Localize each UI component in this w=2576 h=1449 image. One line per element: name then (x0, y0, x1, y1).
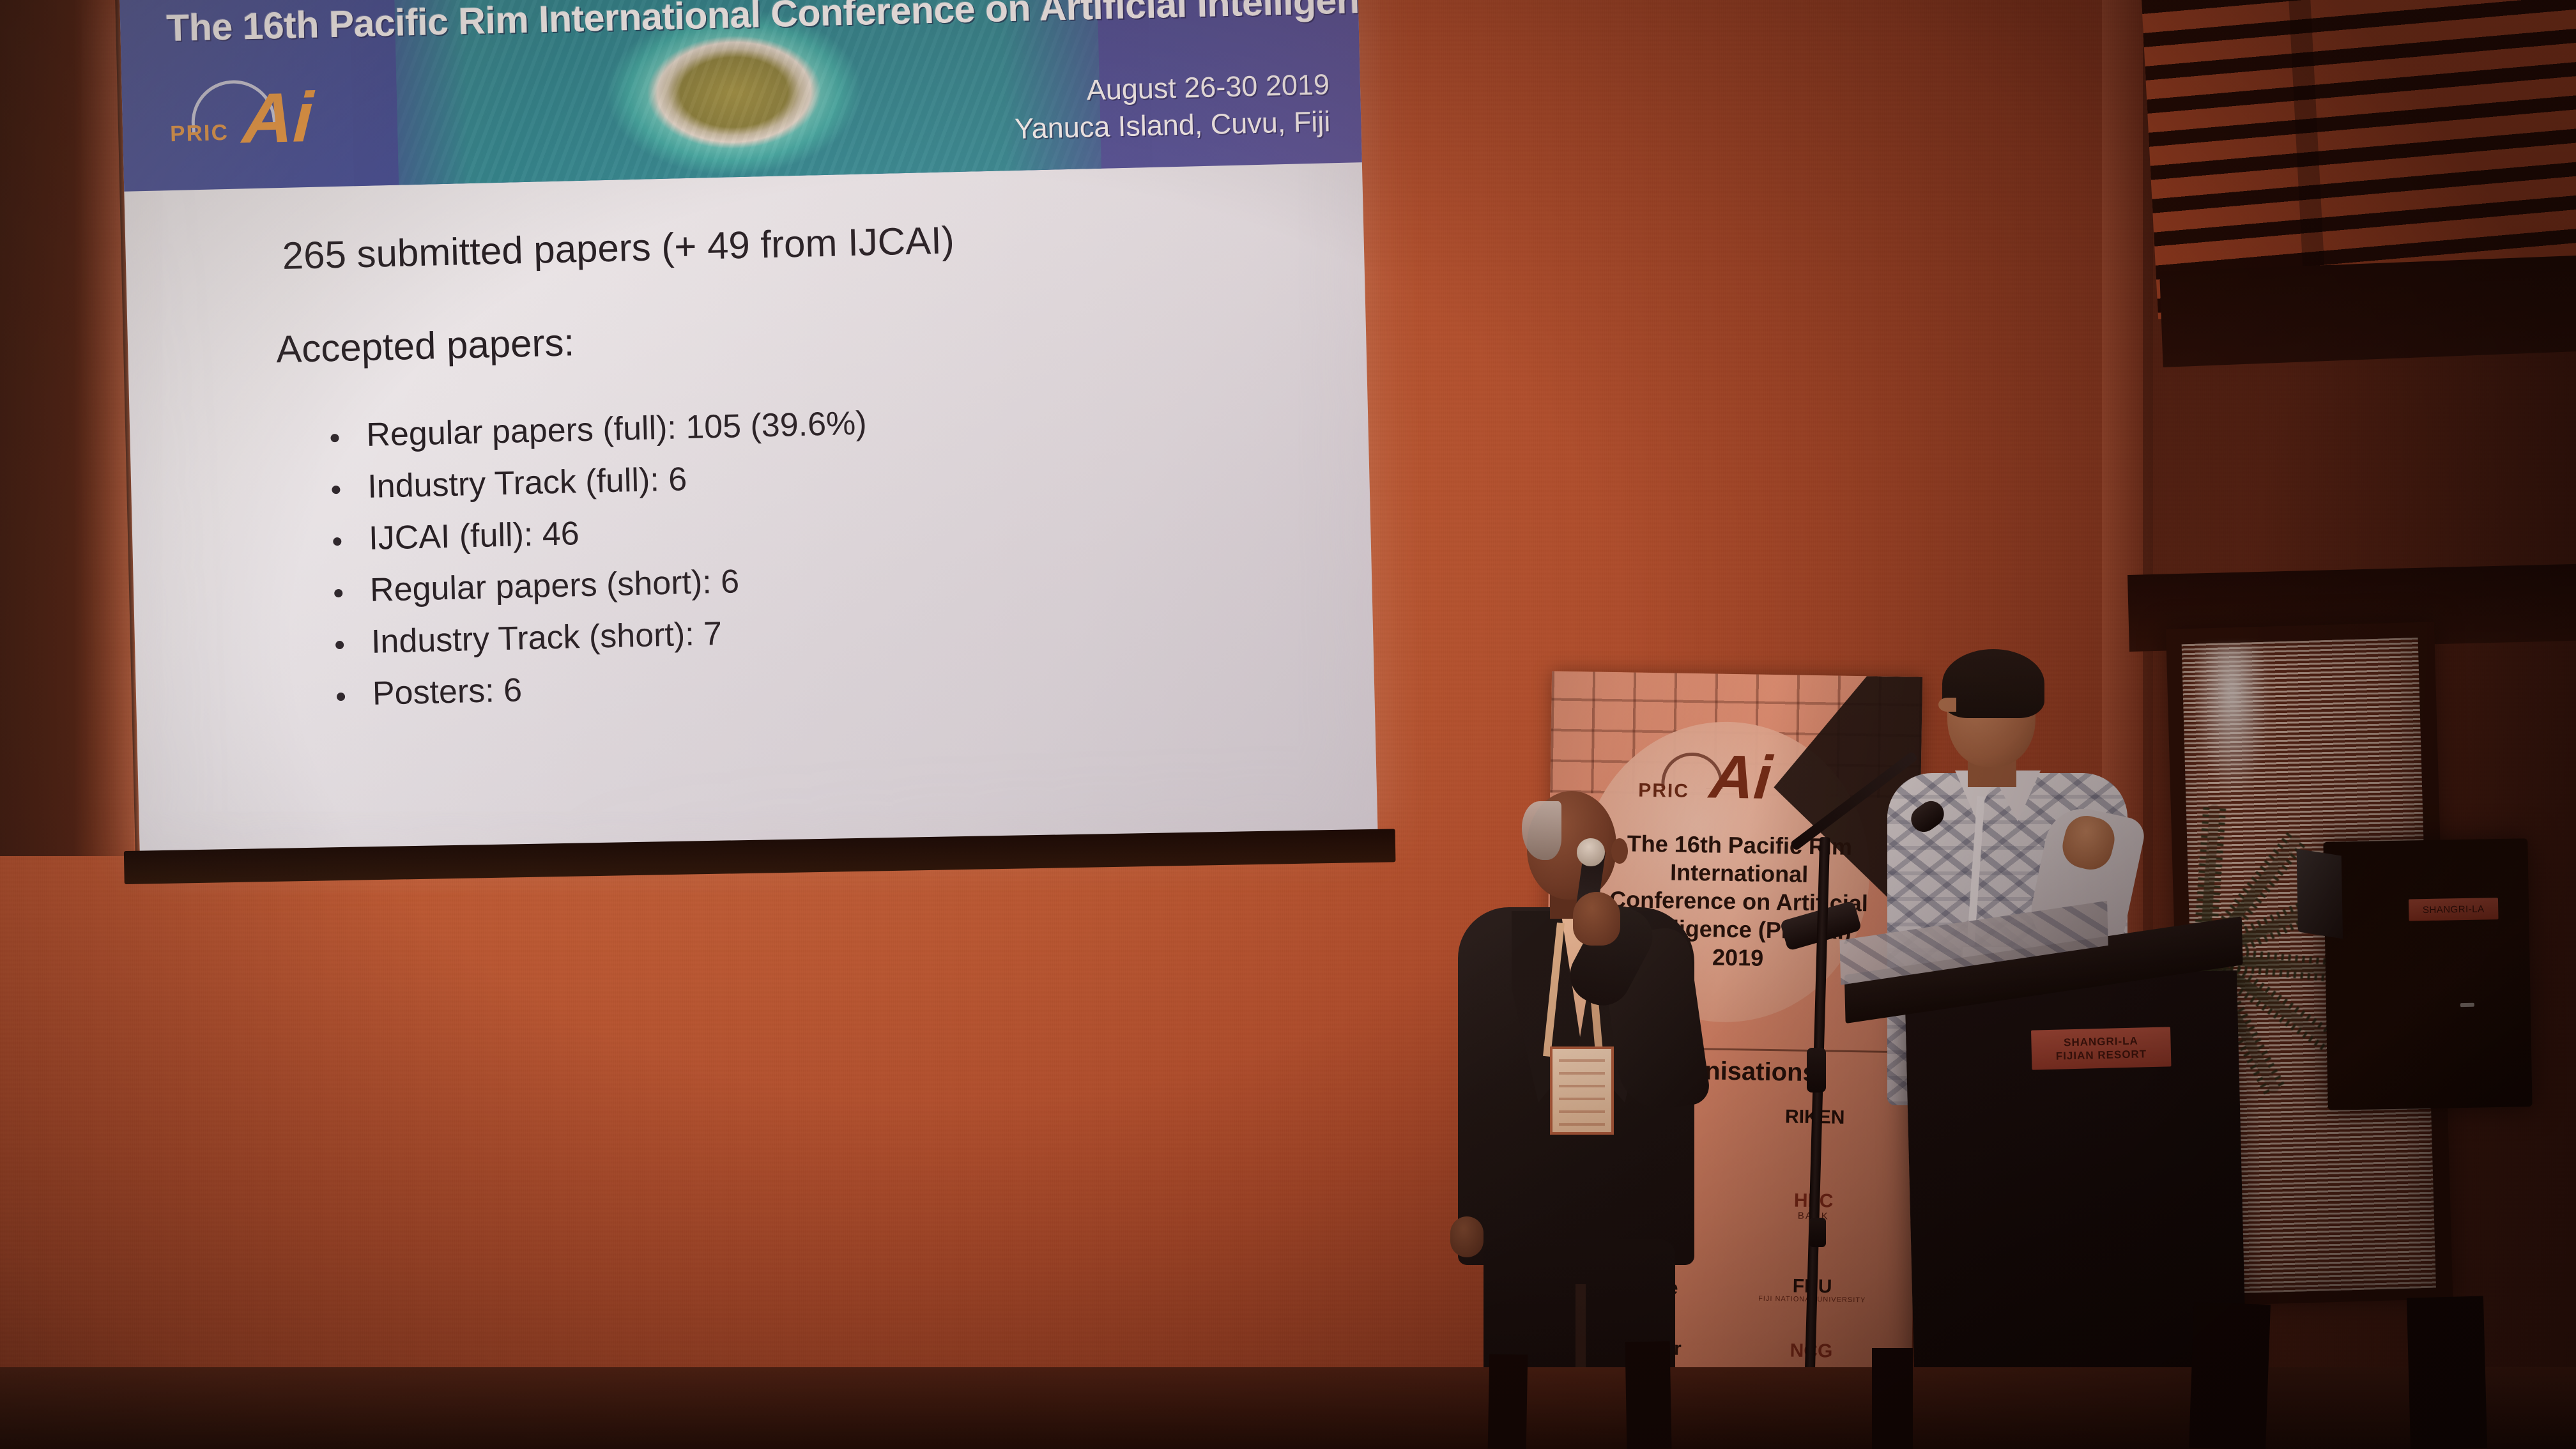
presenter1-ear (1611, 838, 1628, 864)
bullet-dot-icon (334, 589, 342, 597)
list-item: Industry Track (short): 7 (326, 601, 1285, 662)
blinds-mullion (2288, 0, 2327, 311)
list-item: IJCAI (full): 46 (324, 498, 1283, 558)
list-item: Regular papers (full): 105 (39.6%) (321, 394, 1280, 455)
slide-header-banner: The 16th Pacific Rim International Confe… (119, 0, 1362, 192)
presenter-with-microphone (1425, 779, 1725, 1449)
list-item-label: IJCAI (full): 46 (369, 515, 580, 557)
podium-sign-line2: FIJIAN RESORT (2056, 1047, 2147, 1063)
foreground-silhouette (1872, 1348, 1913, 1449)
list-item-label: Posters: 6 (372, 671, 522, 712)
bullet-dot-icon (333, 537, 341, 546)
mic-stand-joint-lower (1809, 1218, 1826, 1247)
pa-speaker-box: SHANGRI-LA (2323, 838, 2532, 1110)
list-item: Regular papers (short): 6 (325, 549, 1284, 610)
foreground-silhouette (2189, 1302, 2271, 1449)
foreground-silhouette (1625, 1341, 1672, 1449)
list-item-label: Regular papers (full): 105 (39.6%) (366, 405, 867, 454)
accepted-papers-heading: Accepted papers: (275, 320, 574, 371)
pricai-logo-prefix: PRIC (170, 120, 229, 147)
presenter1-hand (1573, 892, 1620, 946)
list-item: Posters: 6 (327, 653, 1286, 714)
podium-venue-sign: SHANGRI-LA FIJIAN RESORT (2031, 1027, 2171, 1069)
pa-speaker-led (2460, 1003, 2474, 1007)
bullet-dot-icon (337, 693, 345, 701)
presenter2-hair (1942, 649, 2044, 718)
pa-speaker-label: SHANGRI-LA (2409, 898, 2499, 921)
bullet-dot-icon (332, 486, 340, 494)
submitted-papers-line: 265 submitted papers (+ 49 from IJCAI) (282, 218, 954, 278)
window-daylight-glow (2192, 646, 2273, 801)
pricai-logo-suffix: Ai (241, 82, 314, 155)
foreground-silhouette (2407, 1296, 2487, 1449)
list-item: Industry Track (full): 6 (323, 446, 1282, 507)
blinds-sill (2159, 256, 2576, 367)
foreground-silhouette (1488, 1354, 1528, 1449)
list-item-label: Industry Track (full): 6 (367, 461, 687, 505)
list-item-label: Regular papers (short): 6 (369, 563, 739, 609)
pa-speaker-bracket (2297, 848, 2343, 939)
podium-sign-line1: SHANGRI-LA (2064, 1034, 2138, 1049)
screen-surface: The 16th Pacific Rim International Confe… (119, 0, 1377, 862)
bullet-dot-icon (335, 641, 344, 649)
conference-stage-scene: SHANGRI-LA The 16th Pacific Rim Internat… (0, 0, 2576, 1449)
presenter1-name-badge (1550, 1046, 1614, 1135)
mic-stand-joint-upper (1807, 1048, 1826, 1092)
pricai-logo: PRIC Ai (166, 76, 353, 176)
accepted-papers-list: Regular papers (full): 105 (39.6%) Indus… (321, 394, 1287, 727)
presenter1-left-hand (1450, 1216, 1483, 1257)
slide-body: 265 submitted papers (+ 49 from IJCAI) A… (124, 162, 1377, 862)
bullet-dot-icon (330, 434, 339, 442)
presenter2-nose (1938, 698, 1956, 712)
projection-screen: The 16th Pacific Rim International Confe… (8, 0, 1383, 907)
list-item-label: Industry Track (short): 7 (371, 615, 722, 661)
conference-date-location: August 26-30 2019 Yanuca Island, Cuvu, F… (933, 66, 1331, 149)
